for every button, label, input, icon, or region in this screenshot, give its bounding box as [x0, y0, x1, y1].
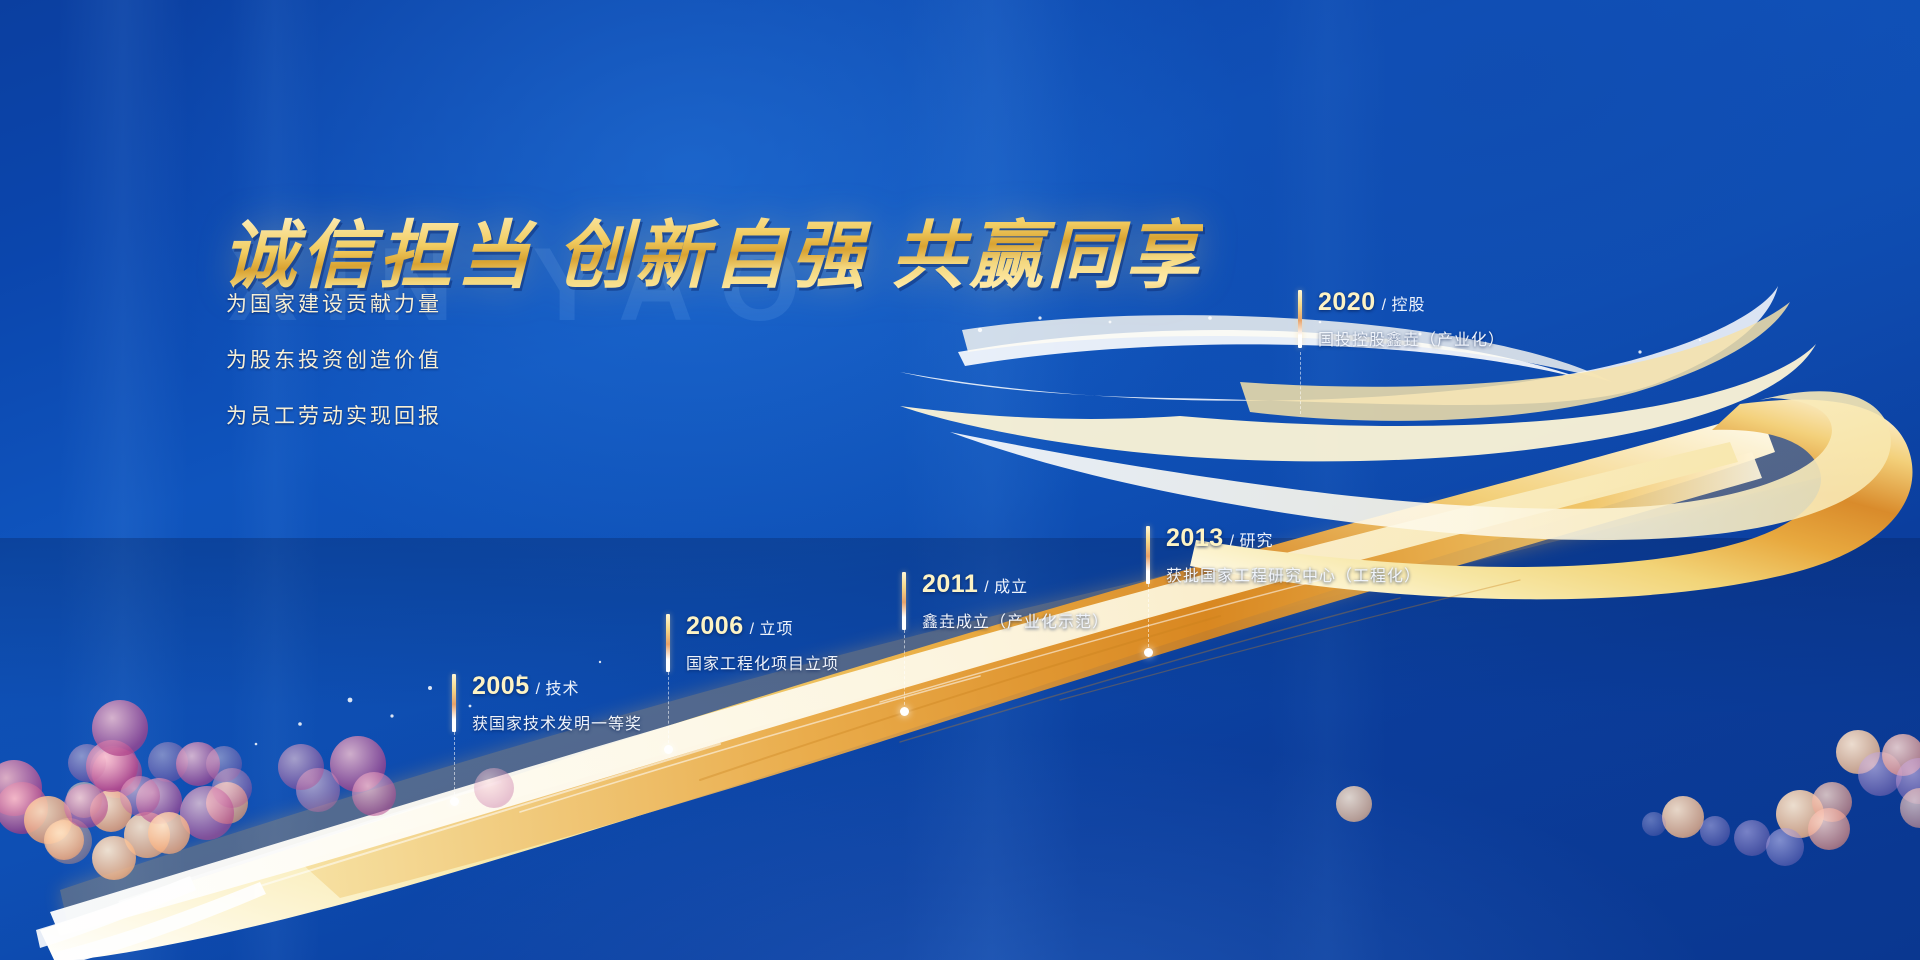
bokeh-circle — [90, 746, 136, 792]
light-shaft-decoration — [230, 0, 320, 960]
bokeh-circle — [206, 782, 248, 824]
bokeh-circle — [1812, 782, 1852, 822]
milestone-node-dot — [664, 745, 673, 754]
milestone-separator: / — [1382, 297, 1387, 314]
bokeh-circle — [0, 782, 48, 834]
milestone-leader-line — [1300, 352, 1301, 414]
milestone-year: 2013 — [1166, 524, 1224, 552]
bokeh-circle — [1662, 796, 1704, 838]
bokeh-circle — [330, 736, 386, 792]
bokeh-circle — [212, 768, 252, 808]
bokeh-circle — [1336, 786, 1372, 822]
milestone-separator: / — [750, 621, 755, 638]
bokeh-circle — [44, 820, 84, 860]
milestone-node-dot — [1144, 648, 1153, 657]
bokeh-circle — [352, 772, 396, 816]
bokeh-circle — [1700, 816, 1730, 846]
milestone-separator: / — [984, 579, 989, 596]
slogan-line: 为股东投资创造价值 — [226, 344, 442, 374]
light-shaft-decoration — [902, 0, 1082, 960]
bokeh-circle — [1734, 820, 1770, 856]
bokeh-circle — [1776, 790, 1824, 838]
light-shaft-decoration — [58, 0, 188, 960]
milestone-category: 技术 — [546, 681, 580, 698]
milestone-text: 2013/ 研究 获批国家工程研究中心（工程化） — [1166, 524, 1421, 586]
milestone-leader-line — [454, 732, 455, 800]
bokeh-circle — [0, 760, 42, 816]
bokeh-circle — [148, 742, 188, 782]
milestone-text: 2005/ 技术 获国家技术发明一等奖 — [472, 672, 642, 734]
headline-block: XIN YAO 诚信担当 创新自强 共赢同享 — [222, 196, 1203, 303]
bokeh-circle — [148, 812, 190, 854]
bokeh-circle — [474, 768, 514, 808]
milestone-leader-line — [1148, 584, 1149, 652]
slogan-list: 为国家建设贡献力量 为股东投资创造价值 为员工劳动实现回报 — [226, 288, 442, 456]
milestone-accent-bar — [452, 674, 456, 732]
milestone-year: 2006 — [686, 612, 744, 640]
bokeh-circle — [90, 790, 132, 832]
milestone-separator: / — [536, 681, 541, 698]
bokeh-circle — [46, 818, 92, 864]
bokeh-circle — [1808, 808, 1850, 850]
bokeh-circle — [92, 836, 136, 880]
milestone-year: 2020 — [1318, 288, 1376, 316]
bokeh-circle — [86, 740, 138, 792]
bokeh-circle — [1836, 730, 1880, 774]
bokeh-circle — [92, 700, 148, 756]
milestone-description: 鑫垚成立（产业化示范） — [922, 608, 1109, 632]
bokeh-circle — [206, 746, 242, 782]
milestone-category: 控股 — [1392, 297, 1426, 314]
bokeh-circle — [296, 768, 340, 812]
milestone-category: 立项 — [760, 621, 794, 638]
background-glow — [346, 730, 1728, 960]
milestone-accent-bar — [666, 614, 670, 672]
milestone-year: 2005 — [472, 672, 530, 700]
milestone-description: 国投控股鑫垚（产业化） — [1318, 326, 1505, 350]
bokeh-circle — [24, 796, 72, 844]
bokeh-circle — [92, 748, 142, 798]
milestone-accent-bar — [1298, 290, 1302, 348]
bokeh-circle — [124, 812, 170, 858]
bokeh-circle — [64, 784, 108, 828]
bokeh-circle — [1900, 788, 1920, 828]
bokeh-circle — [120, 776, 160, 816]
milestone-year: 2011 — [922, 570, 978, 598]
page-title: 诚信担当 创新自强 共赢同享 — [222, 196, 1203, 303]
milestone-accent-bar — [1146, 526, 1150, 584]
bokeh-circle — [136, 778, 182, 824]
milestone-text: 2011/ 成立 鑫垚成立（产业化示范） — [922, 570, 1109, 632]
brush-stroke-artwork — [0, 0, 1920, 960]
milestone-category: 成立 — [994, 579, 1028, 596]
bokeh-circle — [176, 742, 220, 786]
bokeh-circle — [1882, 734, 1920, 776]
bokeh-circle — [180, 786, 234, 840]
bokeh-circle — [68, 744, 106, 782]
bokeh-circle — [1642, 812, 1666, 836]
milestone-category: 研究 — [1240, 533, 1274, 550]
light-shaft-decoration — [1267, 0, 1387, 960]
milestone-node-dot — [450, 797, 459, 806]
slogan-line: 为员工劳动实现回报 — [226, 400, 442, 430]
milestone-node-dot — [900, 707, 909, 716]
bokeh-circle — [1896, 758, 1920, 804]
milestone-leader-line — [904, 630, 905, 710]
slogan-line: 为国家建设贡献力量 — [226, 288, 442, 318]
milestone-text: 2020/ 控股 国投控股鑫垚（产业化） — [1318, 288, 1505, 350]
milestone-text: 2006/ 立项 国家工程化项目立项 — [686, 612, 839, 674]
bokeh-circle — [1858, 752, 1902, 796]
bokeh-circle — [1766, 828, 1804, 866]
bokeh-circle — [66, 782, 102, 818]
milestone-leader-line — [668, 672, 669, 748]
milestone-description: 获国家技术发明一等奖 — [472, 710, 642, 734]
milestone-description: 获批国家工程研究中心（工程化） — [1166, 562, 1421, 586]
banner-canvas: XIN YAO 诚信担当 创新自强 共赢同享 为国家建设贡献力量 为股东投资创造… — [0, 0, 1920, 960]
milestone-accent-bar — [902, 572, 906, 630]
bokeh-circle — [278, 744, 324, 790]
milestone-description: 国家工程化项目立项 — [686, 650, 839, 674]
milestone-separator: / — [1230, 533, 1235, 550]
